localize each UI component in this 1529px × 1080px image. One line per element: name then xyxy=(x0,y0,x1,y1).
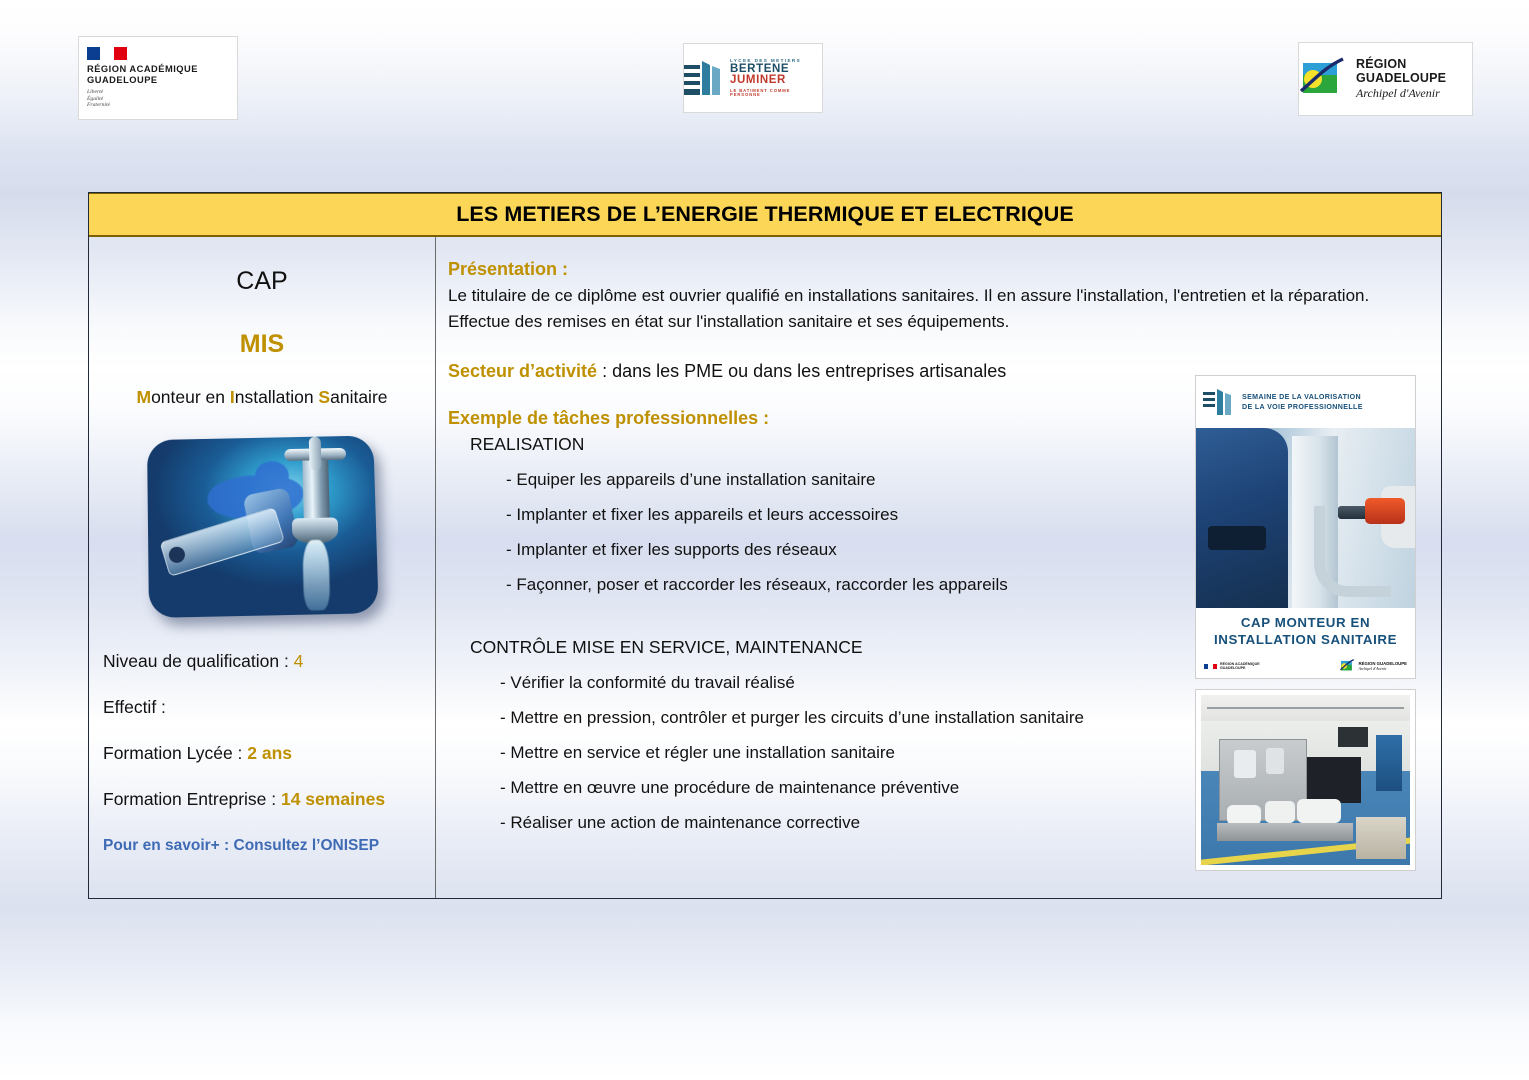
field-niveau-value: 4 xyxy=(294,651,304,671)
poster-footer: RÉGION ACADÉMIQUE GUADELOUPE RÉGION GU xyxy=(1196,654,1415,678)
logo-region-guadeloupe: RÉGION GUADELOUPE Archipel d'Avenir xyxy=(1298,42,1473,116)
fullname-initial-s: S xyxy=(318,387,330,407)
logo-lycee-bertene-juminer: LYCEE DES METIERS BERTENE JUMINER LE BAT… xyxy=(683,43,823,113)
sector-separator: : xyxy=(597,361,612,381)
presentation-text: Le titulaire de ce diplôme est ouvrier q… xyxy=(448,283,1425,335)
faucet-handle-shape xyxy=(284,448,346,461)
workbench-shape xyxy=(1356,817,1406,859)
poster-header: SEMAINE DE LA VALORISATION DE LA VOIE PR… xyxy=(1196,376,1415,428)
poster-kicker-line1: SEMAINE DE LA VALORISATION xyxy=(1242,392,1363,402)
faucet-running-water-image xyxy=(147,435,379,617)
poster-footer-right-line2: Archipel d'Avenir xyxy=(1359,666,1407,671)
logo-acad-line2: GUADELOUPE xyxy=(87,75,198,86)
diploma-fullname: Monteur en Installation Sanitaire xyxy=(103,387,421,408)
logo-acad-line1: RÉGION ACADÉMIQUE xyxy=(87,64,198,75)
ceiling-shape xyxy=(1201,695,1410,722)
logo-region-tagline: Archipel d'Avenir xyxy=(1356,86,1472,101)
dark-panel-shape xyxy=(1305,757,1361,803)
logo-region-title: RÉGION GUADELOUPE xyxy=(1356,57,1472,85)
onisep-link[interactable]: Pour en savoir+ : Consultez l’ONISEP xyxy=(103,837,421,855)
french-flag-icon xyxy=(87,47,127,60)
landscape-icon xyxy=(1339,659,1357,673)
poster-photo xyxy=(1196,428,1415,608)
sector-heading: Secteur d’activité xyxy=(448,361,597,381)
motto-fraternite: Fraternité xyxy=(87,102,198,108)
poster-title-band: CAP MONTEUR EN INSTALLATION SANITAIRE xyxy=(1196,608,1415,654)
toilet-shape xyxy=(1227,805,1261,825)
field-niveau: Niveau de qualification : 4 xyxy=(103,651,421,672)
faucet-image-holder xyxy=(103,426,421,626)
poster-title-line1: CAP MONTEUR EN xyxy=(1241,614,1370,631)
field-formation-lycee-value: 2 ans xyxy=(247,743,292,763)
landscape-icon xyxy=(1299,57,1351,101)
fullname-part-2: nstallation xyxy=(235,387,319,407)
field-formation-entreprise-value: 14 semaines xyxy=(281,789,385,809)
left-column: CAP MIS Monteur en Installation Sanitair… xyxy=(89,237,436,898)
poster-logo-region: RÉGION GUADELOUPE Archipel d'Avenir xyxy=(1339,659,1407,673)
sheet-title-bar: LES METIERS DE L’ENERGIE THERMIQUE ET EL… xyxy=(89,193,1441,237)
door-shape xyxy=(1376,735,1402,791)
poster-footer-left-line2: GUADELOUPE xyxy=(1220,666,1260,670)
worker-shape xyxy=(1196,428,1288,608)
tool-shape xyxy=(1365,498,1405,524)
sector-text: dans les PME ou dans les entreprises art… xyxy=(612,361,1006,381)
water-stream-shape xyxy=(302,540,330,611)
right-column: Présentation : Le titulaire de ce diplôm… xyxy=(436,237,1441,898)
wall-board-shape xyxy=(1338,727,1368,747)
field-niveau-label: Niveau de qualification : xyxy=(103,651,294,671)
fullname-part-3: anitaire xyxy=(330,387,387,407)
field-formation-entreprise-label: Formation Entreprise : xyxy=(103,789,281,809)
field-formation-entreprise: Formation Entreprise : 14 semaines xyxy=(103,789,421,810)
poster-title-line2: INSTALLATION SANITAIRE xyxy=(1214,631,1397,648)
platform-shape xyxy=(1217,823,1353,841)
fullname-initial-m: M xyxy=(136,387,151,407)
fullname-part-1: onteur en xyxy=(151,387,230,407)
field-formation-lycee: Formation Lycée : 2 ans xyxy=(103,743,421,764)
logo-lycee-line2: JUMINER xyxy=(730,75,822,87)
bathtub-shape xyxy=(1297,799,1341,823)
building-icon xyxy=(684,59,726,97)
diploma-level: CAP xyxy=(103,267,421,296)
poster-kicker-line2: DE LA VOIE PROFESSIONNELLE xyxy=(1242,402,1363,412)
plumbing-poster-image: SEMAINE DE LA VALORISATION DE LA VOIE PR… xyxy=(1195,375,1416,679)
field-effectif: Effectif : xyxy=(103,697,421,718)
field-formation-lycee-label: Formation Lycée : xyxy=(103,743,247,763)
logo-lycee-tagline: LE BATIMENT COMME PERSONNE xyxy=(730,89,822,97)
logo-region-academique: RÉGION ACADÉMIQUE GUADELOUPE Liberté Éga… xyxy=(78,36,238,120)
header-logo-bar: RÉGION ACADÉMIQUE GUADELOUPE Liberté Éga… xyxy=(0,0,1529,150)
info-sheet: LES METIERS DE L’ENERGIE THERMIQUE ET EL… xyxy=(88,192,1442,899)
building-icon xyxy=(1203,388,1237,416)
french-flag-icon xyxy=(1204,664,1217,669)
pipe-shape xyxy=(160,507,285,577)
sanitary-installation-workshop-photo xyxy=(1195,689,1416,871)
field-effectif-label: Effectif : xyxy=(103,697,166,717)
page-title: LES METIERS DE L’ENERGIE THERMIQUE ET EL… xyxy=(456,202,1074,227)
basin-shape xyxy=(1265,801,1295,823)
diploma-acronym: MIS xyxy=(103,330,421,359)
presentation-heading: Présentation : xyxy=(448,259,1425,280)
poster-logo-academie: RÉGION ACADÉMIQUE GUADELOUPE xyxy=(1204,662,1260,671)
